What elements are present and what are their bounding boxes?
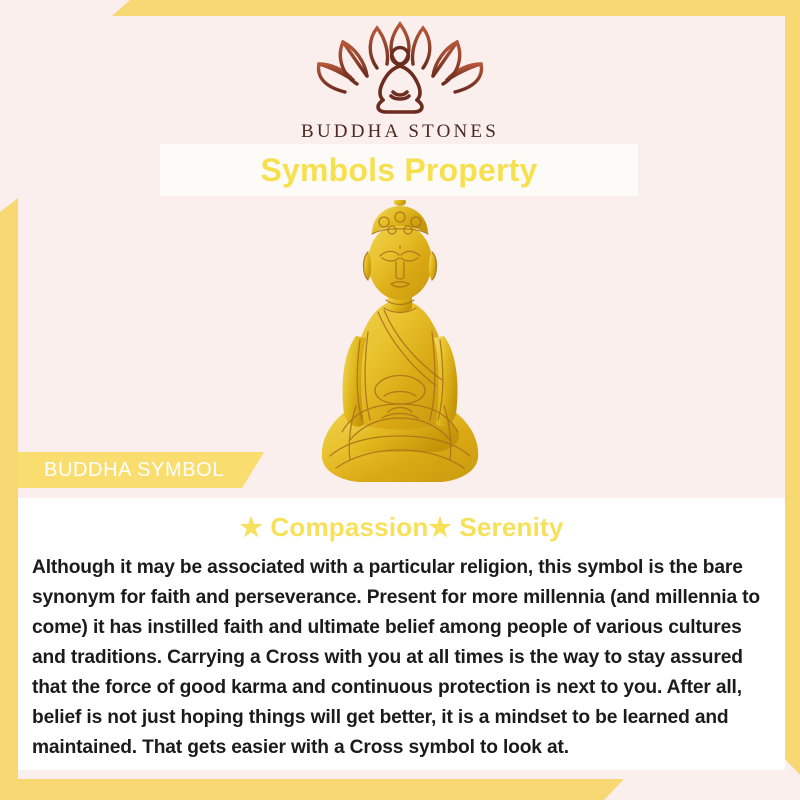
hero-image bbox=[0, 200, 800, 496]
ribbon-label: BUDDHA SYMBOL bbox=[44, 459, 224, 482]
title-band: Symbols Property bbox=[160, 144, 638, 196]
lotus-meditation-figure-icon bbox=[0, 18, 800, 119]
frame-accent-top bbox=[112, 0, 800, 16]
content-panel: ★ Compassion★ Serenity Although it may b… bbox=[18, 498, 785, 770]
golden-seated-buddha-statue bbox=[310, 200, 490, 496]
section-body-text: Although it may be associated with a par… bbox=[18, 553, 785, 763]
page-title: Symbols Property bbox=[260, 152, 537, 189]
poster-root: BUDDHA STONES Symbols Property bbox=[0, 0, 800, 800]
frame-accent-bottom bbox=[0, 779, 624, 800]
section-headline: ★ Compassion★ Serenity bbox=[18, 512, 785, 543]
brand-header: BUDDHA STONES bbox=[0, 18, 800, 143]
section-ribbon: BUDDHA SYMBOL bbox=[18, 452, 264, 488]
brand-name: BUDDHA STONES bbox=[0, 121, 800, 143]
